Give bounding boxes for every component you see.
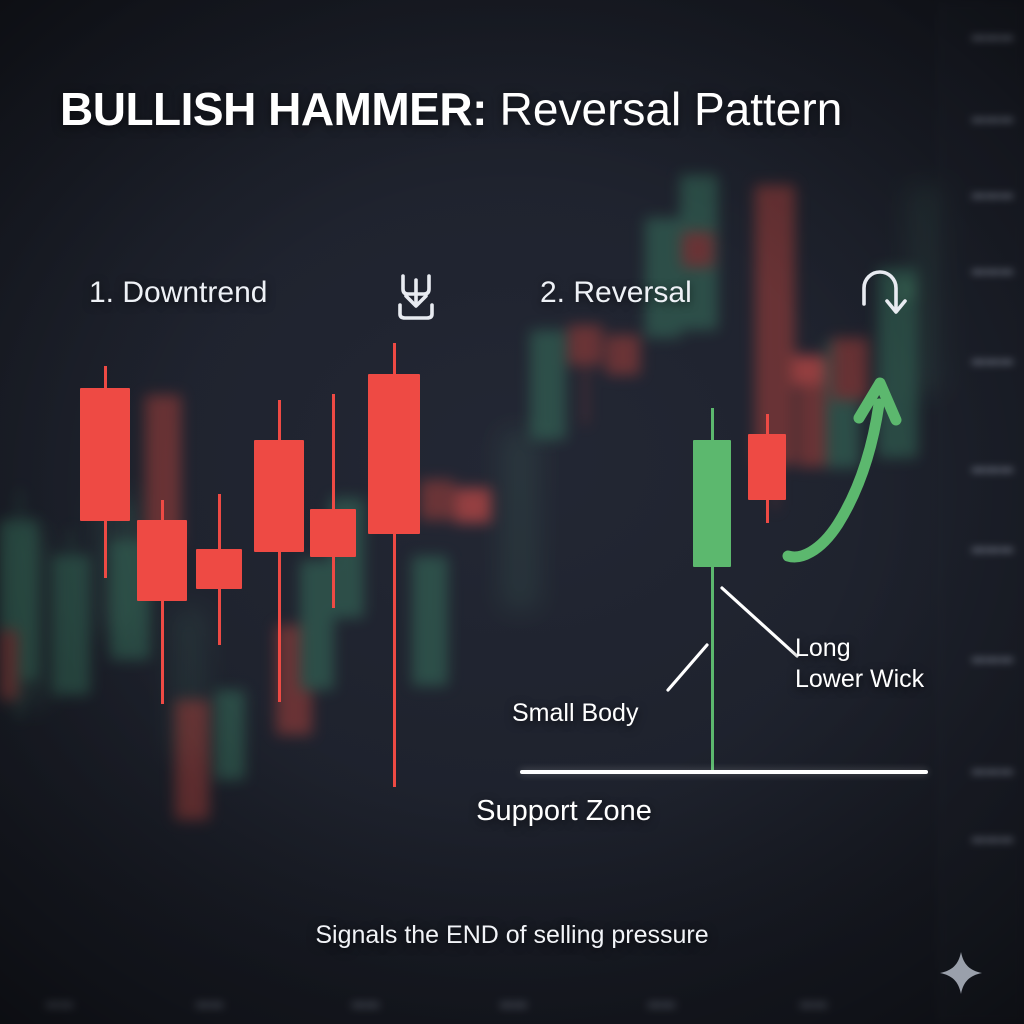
candle-downtrend-2 <box>137 500 187 704</box>
title-strong: BULLISH HAMMER: <box>60 83 487 135</box>
annotation-long-lower-wick-line1: Long <box>795 633 924 664</box>
hammer-small-body <box>693 440 731 567</box>
candle-downtrend-5 <box>310 394 356 608</box>
candle-downtrend-6 <box>368 343 420 787</box>
infographic-canvas: ▬▬▬ ▬▬▬ ▬▬▬ ▬▬▬ ▬▬▬ ▬▬▬ ▬▬▬ ▬▬▬ ▬▬▬ ▬▬▬ … <box>0 0 1024 1024</box>
candle-reversal-red <box>748 414 786 523</box>
sparkle-icon <box>938 950 984 996</box>
support-zone-line <box>520 770 928 774</box>
annotation-small-body: Small Body <box>512 698 638 729</box>
candle-downtrend-4 <box>254 400 304 702</box>
annotation-support-zone: Support Zone <box>0 795 1024 828</box>
foreground-chart <box>0 0 1024 1024</box>
title-light: Reversal Pattern <box>487 83 842 135</box>
candle-downtrend-3 <box>196 494 242 645</box>
page-title: BULLISH HAMMER: Reversal Pattern <box>60 85 842 133</box>
hammer-long-lower-wick <box>711 567 714 772</box>
footer-caption: Signals the END of selling pressure <box>0 921 1024 950</box>
step-label-reversal: 2. Reversal <box>540 276 692 310</box>
candle-downtrend-1 <box>80 366 130 578</box>
annotation-long-lower-wick-line2: Lower Wick <box>795 664 924 695</box>
step-label-downtrend: 1. Downtrend <box>89 276 267 310</box>
candle-hammer <box>693 408 731 772</box>
support-zone-text: Support Zone <box>476 795 652 828</box>
annotation-long-lower-wick: Long Lower Wick <box>795 633 924 694</box>
